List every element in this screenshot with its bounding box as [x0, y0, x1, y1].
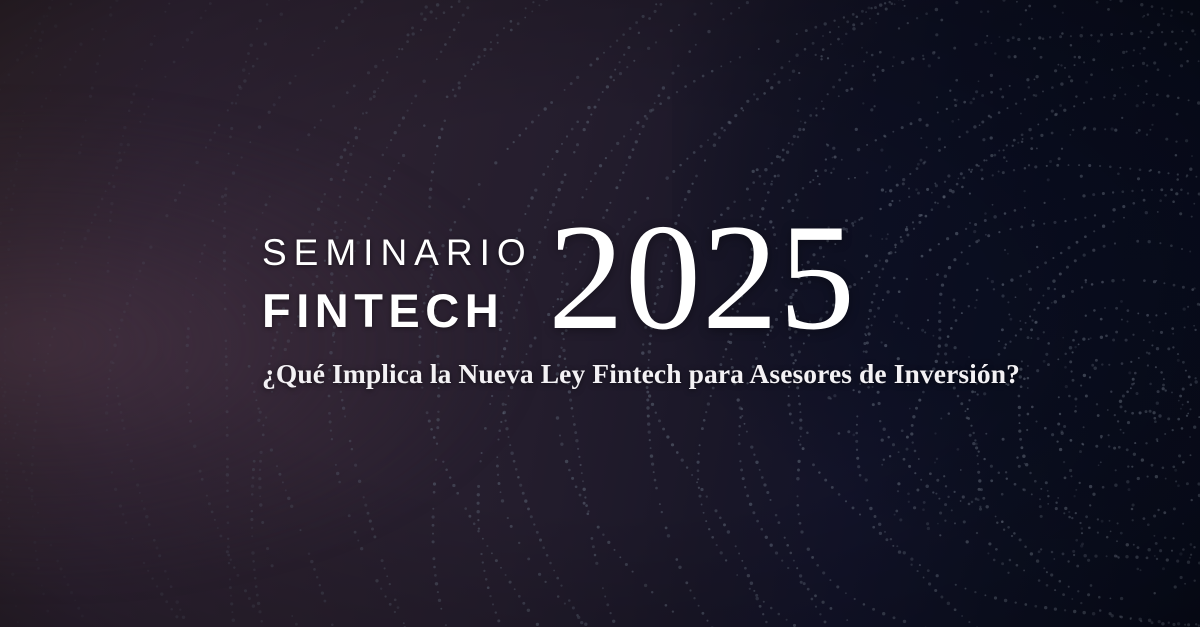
- banner-content: SEMINARIO FINTECH 2025 ¿Qué Implica la N…: [262, 226, 962, 390]
- title-row: SEMINARIO FINTECH 2025: [262, 226, 962, 336]
- event-subtitle: ¿Qué Implica la Nueva Ley Fintech para A…: [262, 358, 962, 390]
- wordmark-line-fintech: FINTECH: [262, 287, 548, 334]
- event-wordmark: SEMINARIO FINTECH: [262, 226, 548, 334]
- seminar-banner: SEMINARIO FINTECH 2025 ¿Qué Implica la N…: [0, 0, 1200, 627]
- wordmark-line-seminario: SEMINARIO: [262, 234, 548, 271]
- event-year: 2025: [548, 220, 856, 336]
